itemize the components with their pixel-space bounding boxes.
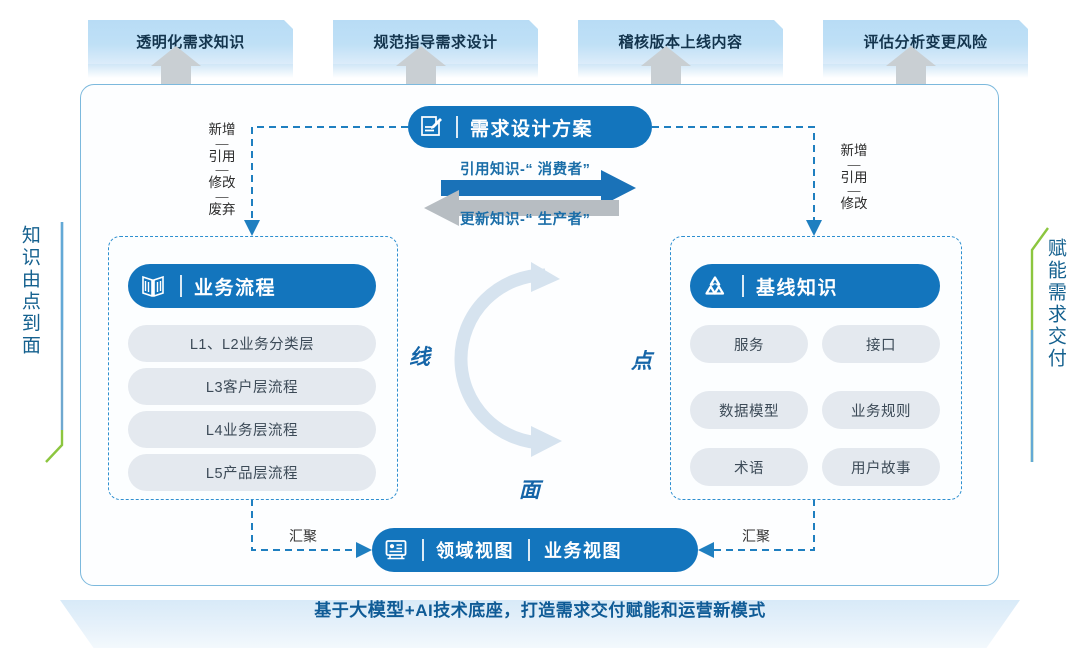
- top-box-label: 规范指导需求设计: [373, 31, 497, 52]
- process-chip-2[interactable]: L4业务层流程: [128, 411, 376, 448]
- left-flow-label-3: 废弃: [198, 202, 246, 218]
- dash-sep: —: [198, 191, 246, 202]
- baseline-chip-5[interactable]: 用户故事: [822, 448, 940, 486]
- pill-divider: [456, 116, 458, 138]
- top-box-2[interactable]: 稽核版本上线内容: [578, 20, 783, 64]
- side-caption-right: 赋能需求交付: [1044, 238, 1066, 370]
- baseline-chip-2[interactable]: 数据模型: [690, 391, 808, 429]
- footer-prefix: 基于: [314, 601, 349, 620]
- top-box-3-shadow: [823, 64, 1028, 78]
- baseline-chip-3[interactable]: 业务规则: [822, 391, 940, 429]
- recycle-share-icon: [690, 273, 740, 299]
- top-box-0[interactable]: 透明化需求知识: [88, 20, 293, 64]
- right-flow-label-stack: 新增 — 引用 — 修改: [830, 143, 878, 212]
- baseline-chip-0[interactable]: 服务: [690, 325, 808, 363]
- pill-divider-2: [528, 539, 530, 561]
- diagram-canvas: 透明化需求知识 规范指导需求设计 稽核版本上线内容 评估分析变更风险: [0, 0, 1080, 664]
- dash-sep: —: [830, 159, 878, 170]
- footer-suffix: 技术底座，打造需求交付赋能和运营新模式: [433, 601, 766, 620]
- view-pill[interactable]: 领域视图 业务视图: [372, 528, 698, 572]
- left-flow-label-stack: 新增 — 引用 — 修改 — 废弃: [198, 122, 246, 217]
- converge-label-right: 汇聚: [742, 526, 770, 546]
- footer-caption: 基于大模型+AI技术底座，打造需求交付赋能和运营新模式: [0, 596, 1080, 622]
- footer-strong: 大模型: [349, 600, 405, 620]
- baseline-chip-1[interactable]: 接口: [822, 325, 940, 363]
- cycle-word-line: 线: [409, 341, 431, 371]
- side-caption-left: 知识由点到面: [18, 225, 40, 357]
- top-box-1[interactable]: 规范指导需求设计: [333, 20, 538, 64]
- converge-label-left: 汇聚: [289, 526, 317, 546]
- top-box-label: 稽核版本上线内容: [618, 31, 742, 52]
- process-chip-0[interactable]: L1、L2业务分类层: [128, 325, 376, 362]
- business-process-title: 业务流程: [194, 273, 276, 300]
- document-edit-icon: [408, 114, 454, 140]
- dash-sep: —: [198, 138, 246, 149]
- cycle-word-face: 面: [519, 474, 541, 504]
- top-box-3[interactable]: 评估分析变更风险: [823, 20, 1028, 64]
- view-item-1: 业务视图: [544, 537, 622, 563]
- process-book-icon: [128, 273, 178, 299]
- right-flow-label-2: 修改: [830, 196, 878, 212]
- business-process-header[interactable]: 业务流程: [128, 264, 376, 308]
- top-box-label: 评估分析变更风险: [863, 31, 987, 52]
- footer-middle: +AI: [405, 601, 433, 620]
- dash-sep: —: [830, 185, 878, 196]
- pill-divider: [180, 275, 182, 297]
- view-item-0: 领域视图: [436, 537, 514, 563]
- baseline-knowledge-header[interactable]: 基线知识: [690, 264, 940, 308]
- cycle-word-point: 点: [631, 345, 653, 375]
- producer-flow-label: 更新知识-“ 生产者”: [460, 208, 590, 229]
- top-box-2-shadow: [578, 64, 783, 78]
- top-box-label: 透明化需求知识: [136, 31, 245, 52]
- consumer-flow-label: 引用知识-“ 消费者”: [460, 158, 590, 179]
- plan-title: 需求设计方案: [470, 114, 593, 141]
- dash-sep: —: [198, 164, 246, 175]
- process-chip-3[interactable]: L5产品层流程: [128, 454, 376, 491]
- pill-divider: [742, 275, 744, 297]
- pill-divider: [422, 539, 424, 561]
- baseline-knowledge-title: 基线知识: [756, 273, 838, 300]
- process-chip-1[interactable]: L3客户层流程: [128, 368, 376, 405]
- requirement-design-plan-pill[interactable]: 需求设计方案: [408, 106, 652, 148]
- baseline-chip-4[interactable]: 术语: [690, 448, 808, 486]
- view-board-icon: [372, 538, 420, 562]
- top-box-1-shadow: [333, 64, 538, 78]
- left-accent-bracket: [46, 222, 62, 462]
- top-box-0-shadow: [88, 64, 293, 78]
